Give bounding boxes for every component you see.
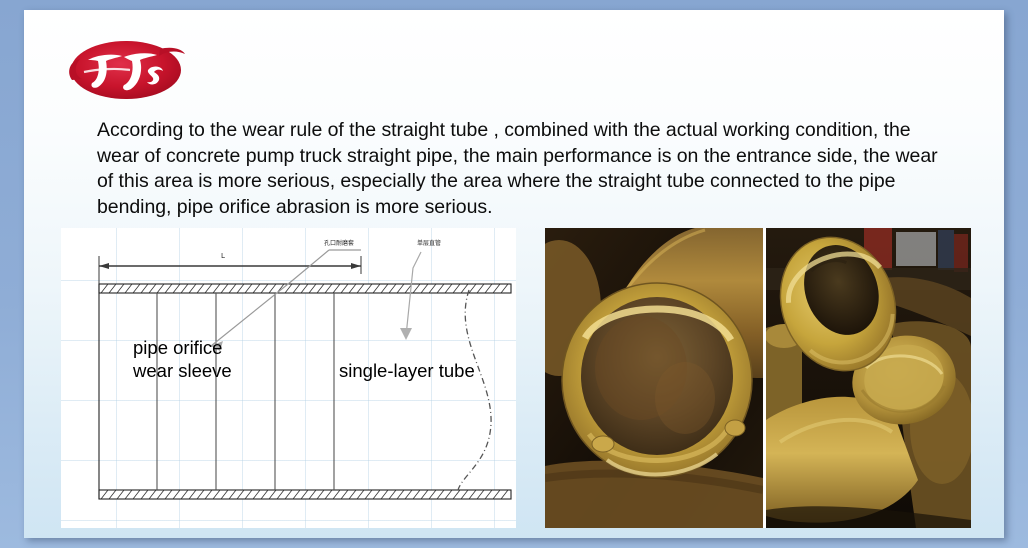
drawing-caption-single-layer-tube: single-layer tube (339, 359, 475, 382)
slide-canvas: According to the wear rule of the straig… (24, 10, 1004, 538)
drawing-annotation-orifice-sleeve: 孔口耐磨套 (324, 238, 354, 247)
photo-stacked-pipes (766, 228, 971, 528)
presentation-background: According to the wear rule of the straig… (0, 0, 1028, 548)
drawing-dimension-label: L (221, 252, 225, 260)
slide-body-text: According to the wear rule of the straig… (97, 118, 957, 220)
tf-monogram-logo (64, 30, 194, 108)
body-paragraph: According to the wear rule of the straig… (97, 118, 957, 220)
figure-row: 孔口耐磨套 单层直管 L pipe orifice wear sleeve si… (61, 228, 971, 528)
drawing-annotation-single-layer-tube: 单层直管 (417, 238, 441, 247)
technical-drawing-panel: 孔口耐磨套 单层直管 L pipe orifice wear sleeve si… (61, 228, 516, 528)
drawing-caption-pipe-orifice-wear-sleeve: pipe orifice wear sleeve (133, 336, 232, 382)
photo-pipe-orifice-closeup (545, 228, 763, 528)
